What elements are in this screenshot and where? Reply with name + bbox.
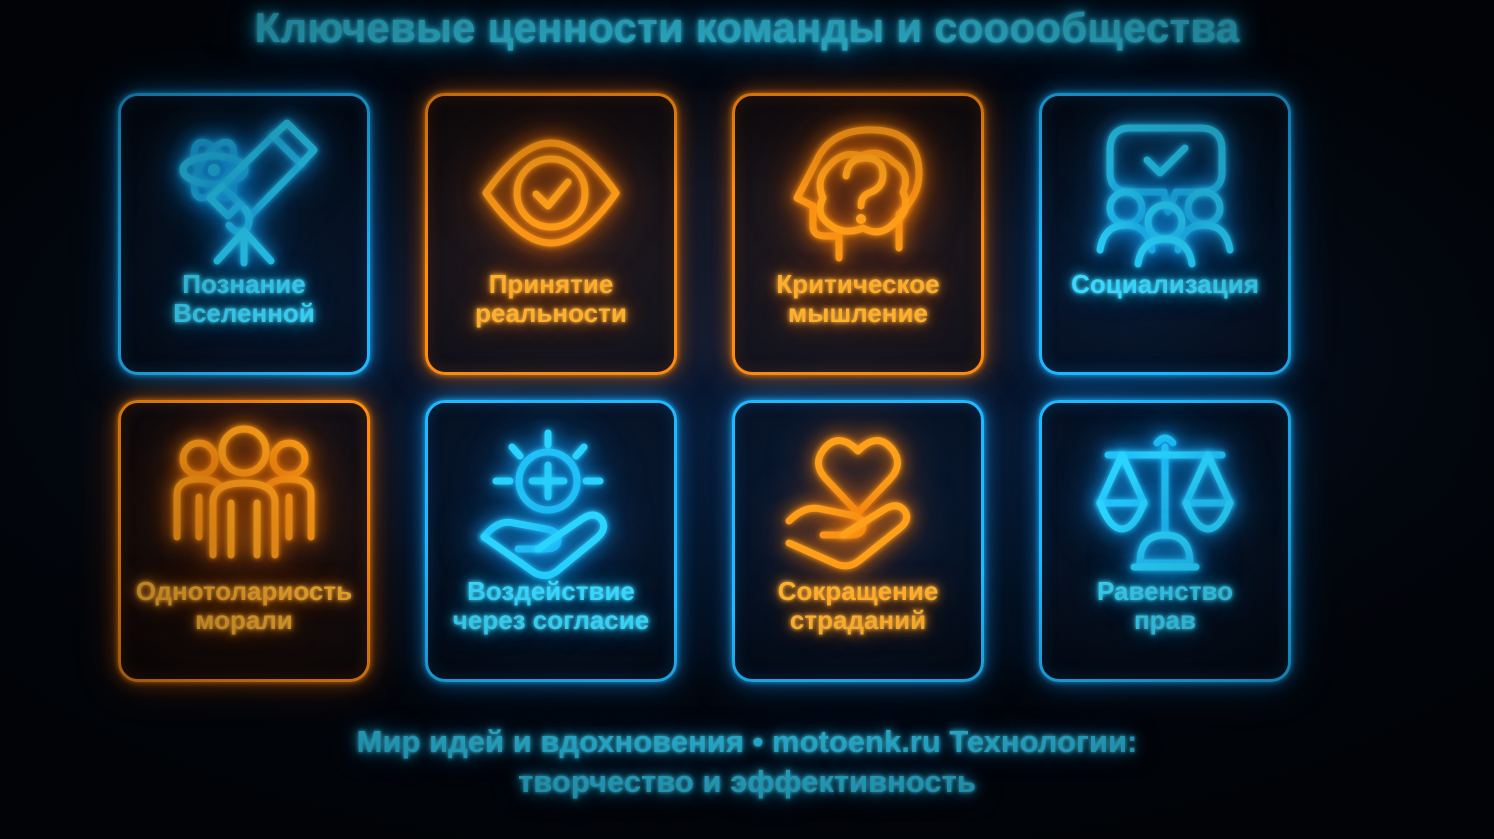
label-line-1: Социализация — [1071, 269, 1259, 299]
value-card-socializaciya[interactable]: Социализация — [1039, 93, 1291, 375]
hand-sun-plus-icon — [476, 425, 626, 575]
footer-line-2: творчество и эффективность — [0, 762, 1494, 802]
value-card-poznanie-vselennoy[interactable]: Познание Вселенной — [118, 93, 370, 375]
value-card-label: Социализация — [1065, 270, 1265, 299]
value-card-odnotolariost-morali[interactable]: Однотолариость морали — [118, 400, 370, 682]
value-card-label: Сокращение страданий — [772, 577, 945, 634]
label-line-1: Принятие — [489, 269, 614, 299]
value-card-prinyatie-realnosti[interactable]: Принятие реальности — [425, 93, 677, 375]
label-line-1: Сокращение — [778, 576, 939, 606]
label-line-1: Критическое — [776, 269, 939, 299]
label-line-2: страданий — [790, 605, 926, 635]
value-card-sokrashchenie-stradaniy[interactable]: Сокращение страданий — [732, 400, 984, 682]
footer-line-1: Мир идей и вдохновения • motoenk.ru Техн… — [357, 724, 1138, 759]
three-people-icon — [169, 425, 319, 575]
value-card-label: Принятие реальности — [469, 270, 633, 327]
hand-heart-icon — [783, 425, 933, 575]
label-line-2: Вселенной — [173, 298, 315, 328]
value-card-label: Познание Вселенной — [167, 270, 321, 327]
value-card-label: Критическое мышление — [770, 270, 945, 327]
label-line-1: Равенство — [1097, 576, 1233, 606]
value-card-ravenstvo-prav[interactable]: Равенство прав — [1039, 400, 1291, 682]
label-line-2: через согласие — [453, 605, 649, 635]
scales-justice-icon — [1090, 425, 1240, 575]
head-question-icon — [783, 118, 933, 268]
label-line-1: Однотолариость — [136, 576, 352, 606]
value-card-label: Воздействие через согласие — [447, 577, 655, 634]
label-line-2: реальности — [475, 298, 627, 328]
eye-check-icon — [476, 118, 626, 268]
telescope-atom-icon — [169, 118, 319, 268]
value-card-kriticheskoe-myshlenie[interactable]: Критическое мышление — [732, 93, 984, 375]
footer: Мир идей и вдохновения • motoenk.ru Техн… — [0, 722, 1494, 801]
speech-bubble-people-icon — [1090, 118, 1240, 268]
value-card-label: Равенство прав — [1091, 577, 1239, 634]
value-card-vozdeystvie-cherez-soglasie[interactable]: Воздействие через согласие — [425, 400, 677, 682]
label-line-1: Воздействие — [467, 576, 635, 606]
label-line-2: мышление — [788, 298, 928, 328]
label-line-2: прав — [1134, 605, 1196, 635]
page-title: Ключевые ценности команды и сооообщества — [0, 4, 1494, 52]
value-card-label: Однотолариость морали — [130, 577, 358, 634]
label-line-1: Познание — [182, 269, 305, 299]
values-grid: Познание Вселенной Принятие реальности — [118, 93, 1290, 682]
label-line-2: морали — [195, 605, 293, 635]
